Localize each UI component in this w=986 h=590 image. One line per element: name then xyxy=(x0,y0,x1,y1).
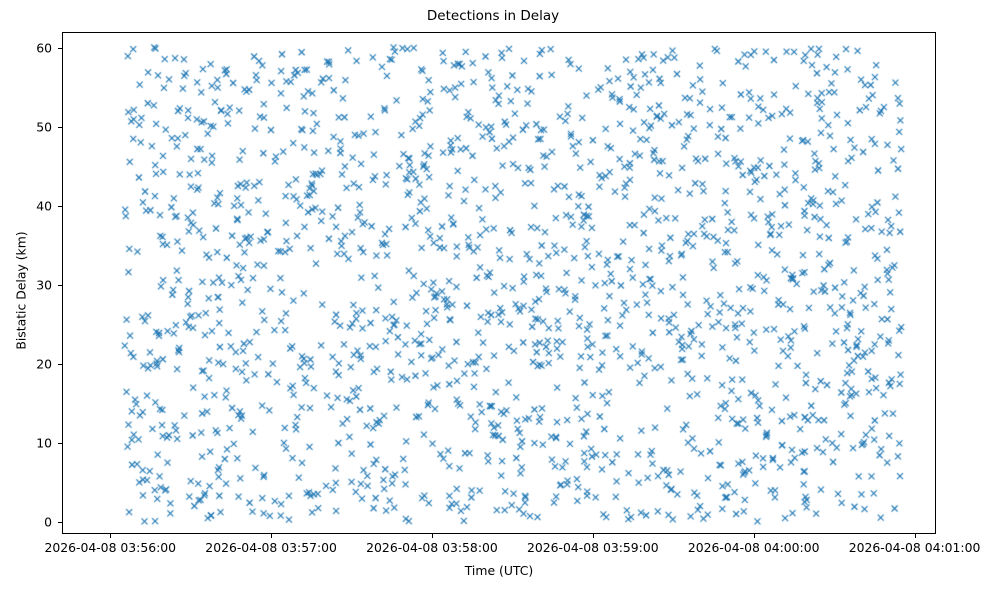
x-tick-label: 2026-04-08 04:00:00 xyxy=(688,540,820,555)
x-tick-label: 2026-04-08 03:57:00 xyxy=(205,540,337,555)
x-tick-label: 2026-04-08 03:56:00 xyxy=(44,540,176,555)
x-tick-mark xyxy=(432,534,433,538)
x-tick-mark xyxy=(915,534,916,538)
scatter-series-detections xyxy=(63,33,935,533)
x-tick-label: 2026-04-08 03:58:00 xyxy=(366,540,498,555)
y-tick-mark xyxy=(58,443,62,444)
matplotlib-figure: Detections in Delay 2026-04-08 03:56:002… xyxy=(0,0,986,590)
y-tick-mark xyxy=(58,522,62,523)
y-tick-mark xyxy=(58,48,62,49)
y-tick-mark xyxy=(58,127,62,128)
y-tick-mark xyxy=(58,285,62,286)
y-tick-mark xyxy=(58,364,62,365)
x-tick-mark xyxy=(593,534,594,538)
scatter-points-canvas xyxy=(63,33,936,534)
y-tick-mark xyxy=(58,206,62,207)
x-tick-label: 2026-04-08 04:01:00 xyxy=(849,540,981,555)
plot-axes-area xyxy=(62,32,936,534)
x-tick-label: 2026-04-08 03:59:00 xyxy=(527,540,659,555)
x-tick-mark xyxy=(110,534,111,538)
x-tick-mark xyxy=(271,534,272,538)
x-tick-mark xyxy=(754,534,755,538)
y-axis-label: Bistatic Delay (km) xyxy=(14,40,29,542)
x-axis-label: Time (UTC) xyxy=(62,563,936,578)
page-title: Detections in Delay xyxy=(0,8,986,24)
